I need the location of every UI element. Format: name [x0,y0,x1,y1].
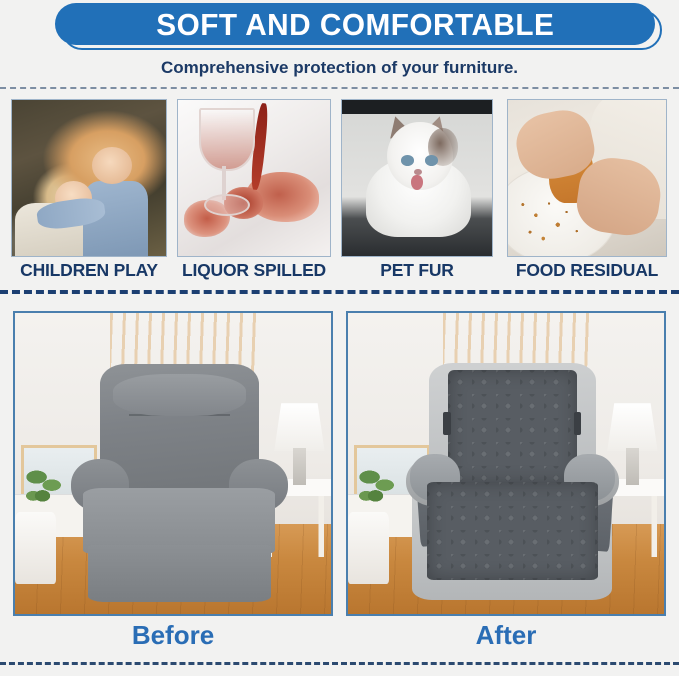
divider-bottom [0,662,679,665]
divider-middle [0,290,679,294]
feature-row: CHILDREN PLAY LIQUOR SPILLED [0,99,679,281]
round-stool [348,512,389,584]
cat-nose [414,169,422,175]
header-banner: SOFT AND COMFORTABLE [0,0,679,58]
before-panel [13,311,333,616]
food-photo-art [508,100,666,256]
round-stool [15,512,56,584]
lamp-base [626,448,639,484]
feature-item-liquor-spilled: LIQUOR SPILLED [177,99,331,257]
cover-strap-right [574,412,581,434]
quilted-cover-seat [427,482,598,581]
feature-label-children-play: CHILDREN PLAY [11,260,167,281]
wine-glass-bowl [199,108,255,171]
wine-photo-art [178,100,330,256]
feature-item-children-play: CHILDREN PLAY [11,99,167,257]
quilted-cover-backrest [448,370,577,484]
lamp-base [293,448,306,484]
recliner-base [88,545,272,602]
worn-gray-recliner-photo [15,313,331,614]
children-photo-art [12,100,166,256]
comparison-section: Before After [0,300,679,650]
recliner-uncovered [75,364,284,602]
feature-label-food-residual: FOOD RESIDUAL [507,260,667,281]
feature-item-pet-fur: PET FUR [341,99,493,257]
fluffy-cat-photo [341,99,493,257]
child-face-older [92,147,132,184]
feature-label-pet-fur: PET FUR [341,260,493,281]
cat-photo-art [342,100,492,256]
after-label: After [346,620,666,651]
before-label: Before [13,620,333,651]
feature-item-food-residual: FOOD RESIDUAL [507,99,667,257]
spilled-red-wine-photo [177,99,331,257]
feature-label-liquor-spilled: LIQUOR SPILLED [177,260,331,281]
recliner-covered [408,358,617,605]
cover-strap-left [443,412,450,434]
hands-eating-food-photo [507,99,667,257]
header-subtitle: Comprehensive protection of your furnitu… [0,56,679,80]
after-panel [346,311,666,616]
divider-top [0,87,679,89]
banner-fill-shape: SOFT AND COMFORTABLE [55,3,655,45]
recliner-headrest [113,374,246,417]
children-hugging-photo [11,99,167,257]
quilted-cover-recliner-photo [348,313,664,614]
cat-eye-left [401,155,415,166]
cat-eye-right [425,155,439,166]
banner-title: SOFT AND COMFORTABLE [156,9,554,40]
